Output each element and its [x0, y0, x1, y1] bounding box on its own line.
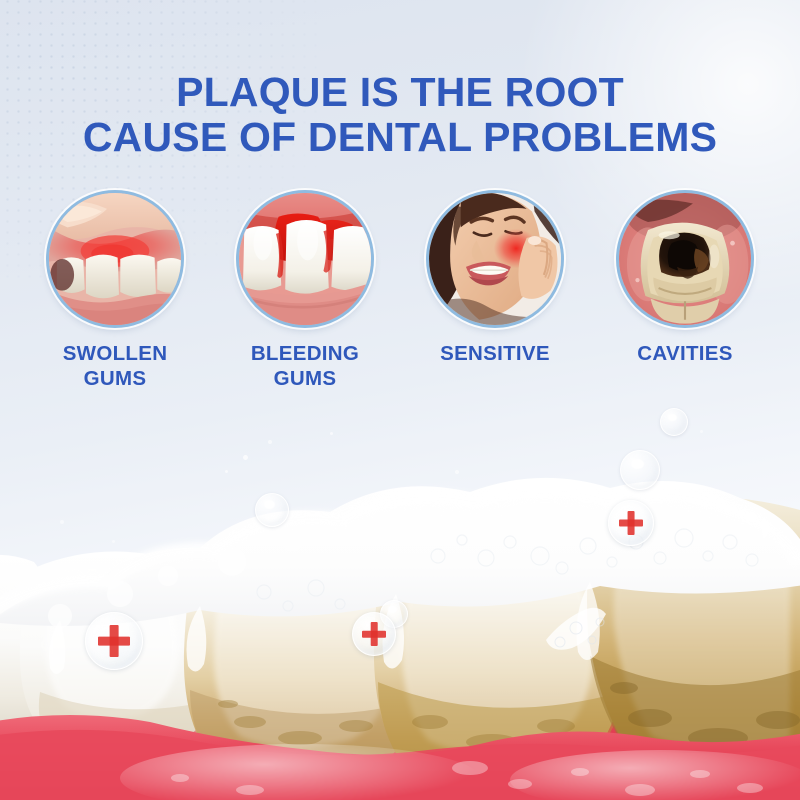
symptom-image-bleeding-gums: [236, 190, 374, 328]
symptom-list: SWOLLEN GUMS: [40, 190, 760, 391]
medical-cross-icon-center: [352, 612, 396, 656]
page-title: PLAQUE IS THE ROOT CAUSE OF DENTAL PROBL…: [0, 70, 800, 160]
symptom-item-sensitive[interactable]: SENSITIVE: [420, 190, 570, 391]
symptom-item-bleeding-gums[interactable]: BLEEDING GUMS: [230, 190, 380, 391]
plus-glyph: [362, 622, 386, 646]
foam-bubble-a: [255, 493, 289, 527]
symptom-item-cavities[interactable]: CAVITIES: [610, 190, 760, 391]
medical-cross-icon-left: [85, 612, 143, 670]
symptom-label-line-1: SENSITIVE: [440, 342, 550, 365]
plus-glyph: [98, 625, 129, 656]
poster-canvas: PLAQUE IS THE ROOT CAUSE OF DENTAL PROBL…: [0, 0, 800, 800]
symptom-label-line-1: CAVITIES: [637, 342, 732, 365]
symptom-label-line-2: GUMS: [274, 367, 337, 390]
plus-glyph: [619, 511, 644, 536]
symptom-image-sensitive: [426, 190, 564, 328]
symptom-item-swollen-gums[interactable]: SWOLLEN GUMS: [40, 190, 190, 391]
symptom-label-line-1: BLEEDING: [251, 342, 359, 365]
foam-bubble-d: [660, 408, 688, 436]
symptom-label-swollen-gums: SWOLLEN GUMS: [63, 341, 168, 391]
symptom-image-swollen-gums: [46, 190, 184, 328]
symptom-label-bleeding-gums: BLEEDING GUMS: [251, 341, 359, 391]
symptom-label-sensitive: SENSITIVE: [440, 341, 550, 366]
headline-line-1: PLAQUE IS THE ROOT: [0, 70, 800, 115]
medical-cross-icon-right: [608, 500, 654, 546]
symptom-label-cavities: CAVITIES: [637, 341, 732, 366]
headline-line-2: CAUSE OF DENTAL PROBLEMS: [0, 115, 800, 160]
symptom-image-cavities: [616, 190, 754, 328]
foam-bubble-c: [620, 450, 660, 490]
symptom-label-line-1: SWOLLEN: [63, 342, 168, 365]
symptom-label-line-2: GUMS: [84, 367, 147, 390]
